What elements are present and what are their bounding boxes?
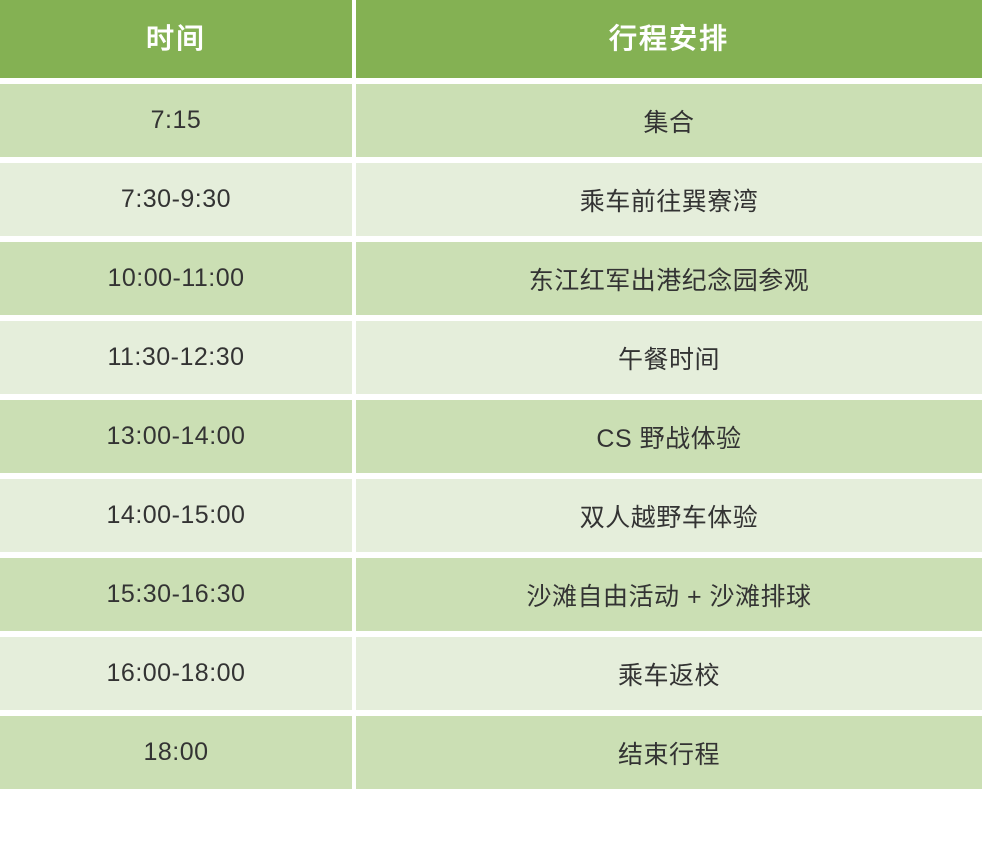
cell-time: 11:30-12:30 [0, 315, 356, 394]
table-row: 14:00-15:00双人越野车体验 [0, 473, 982, 552]
cell-plan: 集合 [356, 78, 982, 157]
cell-time: 7:15 [0, 78, 356, 157]
cell-plan-text: 集合 [643, 103, 694, 139]
cell-time-text: 13:00-14:00 [107, 422, 246, 451]
table-body: 7:15集合7:30-9:30乘车前往巽寮湾10:00-11:00东江红军出港纪… [0, 78, 982, 789]
cell-time-text: 10:00-11:00 [107, 264, 244, 293]
cell-plan: 沙滩自由活动 + 沙滩排球 [356, 552, 982, 631]
column-header-time: 时间 [0, 0, 356, 78]
table-row: 13:00-14:00CS 野战体验 [0, 394, 982, 473]
table-row: 10:00-11:00东江红军出港纪念园参观 [0, 236, 982, 315]
cell-plan: 乘车前往巽寮湾 [356, 157, 982, 236]
table-row: 16:00-18:00乘车返校 [0, 631, 982, 710]
cell-time: 15:30-16:30 [0, 552, 356, 631]
cell-plan-text: 沙滩自由活动 + 沙滩排球 [527, 577, 812, 613]
cell-time: 10:00-11:00 [0, 236, 356, 315]
cell-time-text: 14:00-15:00 [107, 501, 246, 530]
cell-time-text: 15:30-16:30 [107, 580, 246, 609]
cell-time: 16:00-18:00 [0, 631, 356, 710]
cell-plan-text: 乘车前往巽寮湾 [580, 182, 759, 218]
cell-time-text: 7:30-9:30 [121, 185, 231, 214]
cell-time-text: 16:00-18:00 [107, 659, 246, 688]
table-header-row: 时间 行程安排 [0, 0, 982, 78]
cell-plan: 午餐时间 [356, 315, 982, 394]
cell-time: 7:30-9:30 [0, 157, 356, 236]
cell-time-text: 7:15 [151, 106, 202, 135]
cell-plan: 东江红军出港纪念园参观 [356, 236, 982, 315]
cell-time: 13:00-14:00 [0, 394, 356, 473]
table-row: 18:00结束行程 [0, 710, 982, 789]
cell-plan-text: 午餐时间 [618, 340, 720, 376]
column-header-plan: 行程安排 [356, 0, 982, 78]
cell-plan-text: 乘车返校 [618, 656, 720, 692]
cell-time: 14:00-15:00 [0, 473, 356, 552]
table-header: 时间 行程安排 [0, 0, 982, 78]
cell-plan-text: 东江红军出港纪念园参观 [529, 261, 810, 297]
cell-plan-text: CS 野战体验 [596, 419, 741, 455]
cell-time-text: 18:00 [143, 738, 208, 767]
table-row: 7:15集合 [0, 78, 982, 157]
cell-plan: 结束行程 [356, 710, 982, 789]
cell-plan: 双人越野车体验 [356, 473, 982, 552]
cell-time: 18:00 [0, 710, 356, 789]
itinerary-table: 时间 行程安排 7:15集合7:30-9:30乘车前往巽寮湾10:00-11:0… [0, 0, 982, 789]
cell-plan: 乘车返校 [356, 631, 982, 710]
cell-plan-text: 结束行程 [618, 735, 720, 771]
table-row: 7:30-9:30乘车前往巽寮湾 [0, 157, 982, 236]
cell-time-text: 11:30-12:30 [107, 343, 244, 372]
table-row: 15:30-16:30沙滩自由活动 + 沙滩排球 [0, 552, 982, 631]
table-row: 11:30-12:30午餐时间 [0, 315, 982, 394]
cell-plan: CS 野战体验 [356, 394, 982, 473]
cell-plan-text: 双人越野车体验 [580, 498, 759, 534]
